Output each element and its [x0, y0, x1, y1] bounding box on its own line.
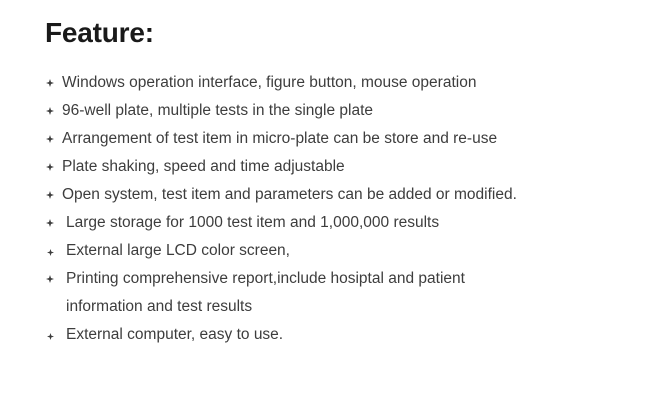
list-item-label: Open system, test item and parameters ca… — [62, 186, 517, 203]
list-item: Windows operation interface, figure butt… — [45, 69, 640, 97]
list-item-label: 96-well plate, multiple tests in the sin… — [62, 102, 373, 119]
list-item: Plate shaking, speed and time adjustable — [45, 153, 640, 181]
list-item: Arrangement of test item in micro-plate … — [45, 125, 640, 153]
feature-slide: Feature: Windows operation interface, fi… — [0, 0, 650, 407]
list-item: 96-well plate, multiple tests in the sin… — [45, 97, 640, 125]
four-pointed-star-bullet-icon — [45, 321, 56, 349]
list-item-label: Printing comprehensive report,include ho… — [66, 270, 465, 287]
list-item-label: External computer, easy to use. — [66, 326, 283, 343]
four-pointed-star-bullet-icon — [45, 153, 56, 181]
list-item: Large storage for 1000 test item and 1,0… — [45, 209, 640, 237]
list-item: Open system, test item and parameters ca… — [45, 181, 640, 209]
list-item: External computer, easy to use. — [45, 321, 640, 349]
list-item: Printing comprehensive report,include ho… — [45, 265, 640, 321]
four-pointed-star-bullet-icon — [45, 209, 56, 237]
list-item-label: Large storage for 1000 test item and 1,0… — [66, 214, 439, 231]
list-item-label: Windows operation interface, figure butt… — [62, 74, 476, 91]
four-pointed-star-bullet-icon — [45, 265, 56, 293]
four-pointed-star-bullet-icon — [45, 97, 56, 125]
list-item: External large LCD color screen, — [45, 237, 640, 265]
list-item-label: External large LCD color screen, — [66, 242, 290, 259]
list-item-label: Plate shaking, speed and time adjustable — [62, 158, 345, 175]
four-pointed-star-bullet-icon — [45, 69, 56, 97]
four-pointed-star-bullet-icon — [45, 125, 56, 153]
page-title: Feature: — [45, 16, 154, 50]
list-item-label-continuation: information and test results — [66, 293, 640, 321]
four-pointed-star-bullet-icon — [45, 181, 56, 209]
list-item-label: Arrangement of test item in micro-plate … — [62, 130, 497, 147]
four-pointed-star-bullet-icon — [45, 237, 56, 265]
feature-list: Windows operation interface, figure butt… — [45, 69, 640, 349]
